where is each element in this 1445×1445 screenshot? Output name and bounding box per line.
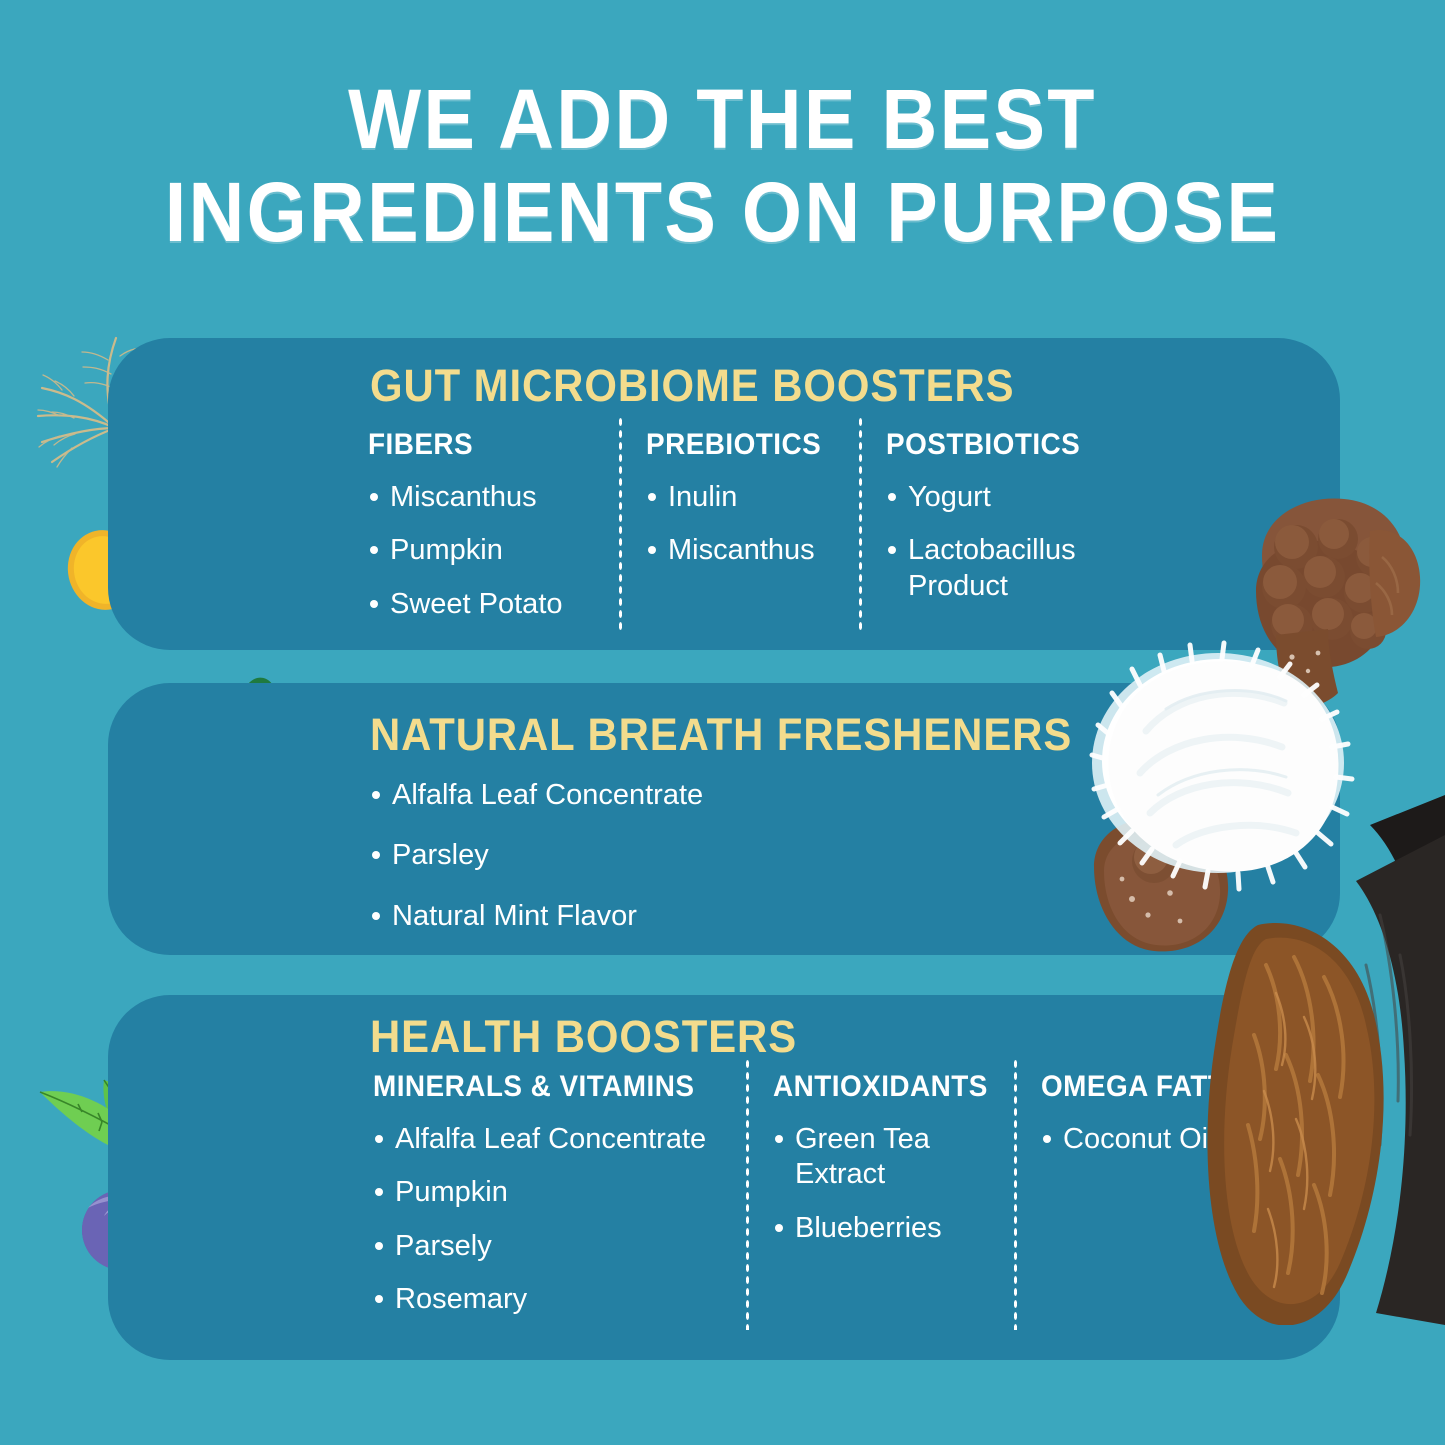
ingredient-list: Alfalfa Leaf Concentrate Pumpkin Parsely… [373,1122,745,1318]
list-item: Rosemary [373,1282,745,1317]
column-minerals-vitamins: MINERALS & VITAMINS Alfalfa Leaf Concent… [373,1070,745,1336]
list-item: Natural Mint Flavor [370,899,703,934]
column-header: ANTIOXIDANTS [773,1070,996,1104]
column-divider [618,416,623,634]
column-omega-fatty-acids: OMEGA FATTY ACIDS Coconut Oil [1013,1070,1343,1336]
ingredient-list: Yogurt Lactobacillus Product [886,480,1108,604]
list-item: Lactobacillus Product [886,533,1108,604]
column-prebiotics: PREBIOTICS Inulin Miscanthus [618,428,858,640]
panel-heading: NATURAL BREATH FRESHENERS [370,709,1072,761]
page-title-line-2: INGREDIENTS ON PURPOSE [58,171,1387,254]
list-item: Blueberries [773,1211,1013,1246]
list-item: Pumpkin [373,1175,745,1210]
column-header: POSTBIOTICS [886,428,1092,462]
panel-columns: MINERALS & VITAMINS Alfalfa Leaf Concent… [373,1070,1343,1336]
list-item: Miscanthus [646,533,858,568]
page-title-line-1: WE ADD THE BEST [348,72,1097,166]
column-fibers: FIBERS Miscanthus Pumpkin Sweet Potato [368,428,618,640]
column-divider [745,1058,750,1330]
ingredient-list: Miscanthus Pumpkin Sweet Potato [368,480,618,622]
column-antioxidants: ANTIOXIDANTS Green Tea Extract Blueberri… [745,1070,1013,1336]
ingredient-list: Coconut Oil [1041,1122,1343,1157]
list-item: Parsely [373,1229,745,1264]
list-item: Pumpkin [368,533,618,568]
column-header: PREBIOTICS [646,428,843,462]
panel-health-boosters: HEALTH BOOSTERS MINERALS & VITAMINS Alfa… [108,995,1340,1360]
ingredient-list: Green Tea Extract Blueberries [773,1122,1013,1246]
list-item: Alfalfa Leaf Concentrate [370,778,703,813]
column-header: OMEGA FATTY ACIDS [1041,1070,1322,1104]
list-item: Coconut Oil [1041,1122,1343,1157]
list-item: Inulin [646,480,858,515]
page-title: WE ADD THE BEST INGREDIENTS ON PURPOSE [58,78,1387,254]
column-divider [1013,1058,1018,1330]
panel-heading: HEALTH BOOSTERS [370,1011,797,1063]
list-item: Green Tea Extract [773,1122,945,1193]
infographic-canvas: WE ADD THE BEST INGREDIENTS ON PURPOSE [0,0,1445,1445]
list-item: Parsley [370,838,703,873]
panel-natural-breath-fresheners: NATURAL BREATH FRESHENERS Alfalfa Leaf C… [108,683,1340,955]
column-header: FIBERS [368,428,601,462]
column-header: MINERALS & VITAMINS [373,1070,719,1104]
panel-columns: FIBERS Miscanthus Pumpkin Sweet Potato P… [368,428,1108,640]
panel-gut-microbiome-boosters: GUT MICROBIOME BOOSTERS FIBERS Miscanthu… [108,338,1340,650]
panel-heading: GUT MICROBIOME BOOSTERS [370,360,1015,412]
list-item: Sweet Potato [368,587,618,622]
ingredient-list: Inulin Miscanthus [646,480,858,569]
column-divider [858,416,863,634]
column-postbiotics: POSTBIOTICS Yogurt Lactobacillus Product [858,428,1108,640]
list-item: Alfalfa Leaf Concentrate [373,1122,745,1157]
list-item: Miscanthus [368,480,618,515]
list-item: Yogurt [886,480,1108,515]
ingredient-list: Alfalfa Leaf Concentrate Parsley Natural… [370,778,703,959]
